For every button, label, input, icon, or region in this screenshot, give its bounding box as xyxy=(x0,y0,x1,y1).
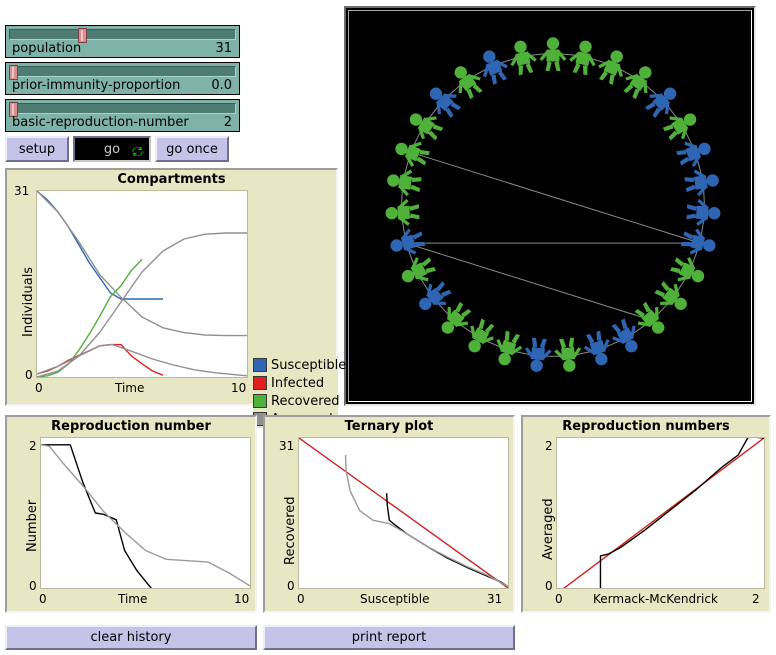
agent-recovered[interactable] xyxy=(567,38,600,76)
plot-compartments-area xyxy=(36,190,248,378)
plot-reproduction-number-xtick-min: 0 xyxy=(39,592,47,606)
plot-compartments: Compartments 31 0 Individuals 0 Time 10 … xyxy=(5,168,338,406)
plot-reproduction-number-ytick-max: 2 xyxy=(29,439,37,453)
plot-reproduction-number-area xyxy=(40,437,251,589)
slider-value-prior-immunity: 0.0 xyxy=(211,78,232,93)
series-history xyxy=(41,445,250,588)
slider-track-population[interactable] xyxy=(9,29,236,40)
forever-loop-icon xyxy=(132,146,143,157)
plot-reproduction-number: Reproduction number 2 0 Number 0 Time 10 xyxy=(5,415,257,613)
legend-item[interactable]: Infected xyxy=(253,374,338,392)
plot-reproduction-numbers-area xyxy=(556,437,765,589)
series-constraint-line xyxy=(299,438,508,588)
slider-label-population: population xyxy=(12,41,81,56)
netlogo-model-interface: population 31 prior-immunity-proportion … xyxy=(0,0,776,655)
plot-reproduction-numbers: Reproduction numbers 2 0 Averaged 0 Kerm… xyxy=(521,415,771,613)
plot-ternary-xtick-min: 0 xyxy=(297,592,305,606)
plot-ternary-xlabel: Susceptible xyxy=(360,592,429,606)
agent-recovered[interactable] xyxy=(490,329,526,369)
print-report-button-label: print report xyxy=(352,630,426,645)
legend-label-recovered: Recovered xyxy=(271,394,340,409)
legend-swatch-infected xyxy=(253,376,267,390)
plot-compartments-ytick-min: 0 xyxy=(25,368,33,382)
agent-recovered[interactable] xyxy=(391,134,432,171)
netlogo-world-view[interactable] xyxy=(344,6,756,406)
plot-reproduction-numbers-ylabel: Averaged xyxy=(541,498,556,560)
go-once-button-label: go once xyxy=(166,142,218,157)
agent-turtles xyxy=(385,37,721,373)
plot-ternary-ytick-max: 31 xyxy=(279,439,294,453)
plot-reproduction-number-ylabel: Number xyxy=(25,500,40,552)
series-identity-line xyxy=(557,438,764,588)
setup-button[interactable]: setup xyxy=(5,136,69,162)
clear-history-button[interactable]: clear history xyxy=(5,625,257,650)
legend-swatch-recovered xyxy=(253,394,267,408)
series-current xyxy=(387,493,508,586)
series-averaged-susceptible xyxy=(37,191,247,336)
plot-reproduction-numbers-ytick-min: 0 xyxy=(545,579,553,593)
plot-compartments-title: Compartments xyxy=(7,172,336,187)
plot-compartments-xlabel: Time xyxy=(115,381,144,395)
agent-susceptible[interactable] xyxy=(580,329,616,369)
agent-susceptible[interactable] xyxy=(387,226,426,261)
world-canvas[interactable] xyxy=(348,10,752,402)
agent-recovered[interactable] xyxy=(396,252,438,291)
agent-recovered[interactable] xyxy=(553,337,583,373)
plot-ternary-ylabel: Recovered xyxy=(283,496,298,565)
plot-reproduction-number-ytick-min: 0 xyxy=(29,579,37,593)
slider-basic-reproduction-number[interactable]: basic-reproduction-number 2 xyxy=(5,99,240,132)
plot-ternary-area xyxy=(298,437,509,589)
slider-track-basic-reproduction[interactable] xyxy=(9,103,236,114)
plot-reproduction-numbers-xtick-min: 0 xyxy=(555,592,563,606)
slider-population[interactable]: population 31 xyxy=(5,25,240,58)
plot-reproduction-number-xlabel: Time xyxy=(118,592,147,606)
slider-track-prior-immunity[interactable] xyxy=(9,66,236,77)
plot-compartments-ytick-max: 31 xyxy=(14,184,29,198)
plot-compartments-xtick-max: 10 xyxy=(231,381,246,395)
plot-ternary-ytick-min: 0 xyxy=(287,579,295,593)
print-report-button[interactable]: print report xyxy=(263,625,515,650)
go-once-button[interactable]: go once xyxy=(155,136,229,162)
ternary-lines xyxy=(299,438,508,588)
compartments-lines xyxy=(37,191,247,377)
setup-button-label: setup xyxy=(19,142,55,157)
series-susceptible xyxy=(37,191,163,299)
go-button[interactable]: go xyxy=(73,136,151,162)
series-infected xyxy=(37,345,163,376)
slider-value-population: 31 xyxy=(215,41,232,56)
plot-reproduction-number-xtick-max: 10 xyxy=(234,592,249,606)
legend-label-infected: Infected xyxy=(271,376,324,391)
agent-susceptible[interactable] xyxy=(674,134,715,171)
slider-label-prior-immunity: prior-immunity-proportion xyxy=(12,78,180,93)
plot-reproduction-numbers-xlabel: Kermack-McKendrick xyxy=(593,592,718,606)
plot-compartments-xtick-min: 0 xyxy=(35,381,43,395)
slider-prior-immunity-proportion[interactable]: prior-immunity-proportion 0.0 xyxy=(5,62,240,95)
plot-ternary-title: Ternary plot xyxy=(265,419,513,434)
legend-swatch-susceptible xyxy=(253,358,267,372)
clear-history-button-label: clear history xyxy=(91,630,172,645)
plot-compartments-ylabel: Individuals xyxy=(21,267,36,337)
agent-susceptible[interactable] xyxy=(683,166,720,198)
plot-reproduction-numbers-title: Reproduction numbers xyxy=(523,419,769,434)
agent-recovered[interactable] xyxy=(506,38,539,76)
slider-track-fill xyxy=(9,66,236,77)
series-history xyxy=(346,455,508,587)
series-recovered xyxy=(37,259,142,377)
plot-ternary: Ternary plot 31 0 Recovered 0 Susceptibl… xyxy=(263,415,515,613)
slider-value-basic-reproduction: 2 xyxy=(224,115,232,130)
slider-label-basic-reproduction: basic-reproduction-number xyxy=(12,115,189,130)
agent-recovered[interactable] xyxy=(385,166,422,198)
agent-recovered[interactable] xyxy=(593,46,631,88)
agent-recovered[interactable] xyxy=(667,252,709,291)
agent-susceptible[interactable] xyxy=(523,337,553,373)
legend-label-susceptible: Susceptible xyxy=(271,358,346,373)
plot-reproduction-numbers-xtick-max: 2 xyxy=(752,592,760,606)
plot-reproduction-number-title: Reproduction number xyxy=(7,419,255,434)
legend-item[interactable]: Recovered xyxy=(253,392,338,410)
chord-link xyxy=(410,152,700,243)
series-current xyxy=(41,445,154,588)
plot-reproduction-numbers-ytick-max: 2 xyxy=(545,439,553,453)
world-agents-layer xyxy=(349,11,752,402)
slider-track-fill xyxy=(9,103,236,114)
slider-track-fill xyxy=(9,29,236,40)
legend-item[interactable]: Susceptible xyxy=(253,356,338,374)
go-button-label: go xyxy=(104,142,120,157)
agent-recovered[interactable] xyxy=(540,37,567,71)
reproduction-number-lines xyxy=(41,438,250,588)
series-current xyxy=(600,438,764,588)
agent-susceptible[interactable] xyxy=(679,226,718,261)
agent-susceptible[interactable] xyxy=(474,46,512,88)
reproduction-numbers-lines xyxy=(557,438,764,588)
plot-ternary-xtick-max: 31 xyxy=(487,592,502,606)
